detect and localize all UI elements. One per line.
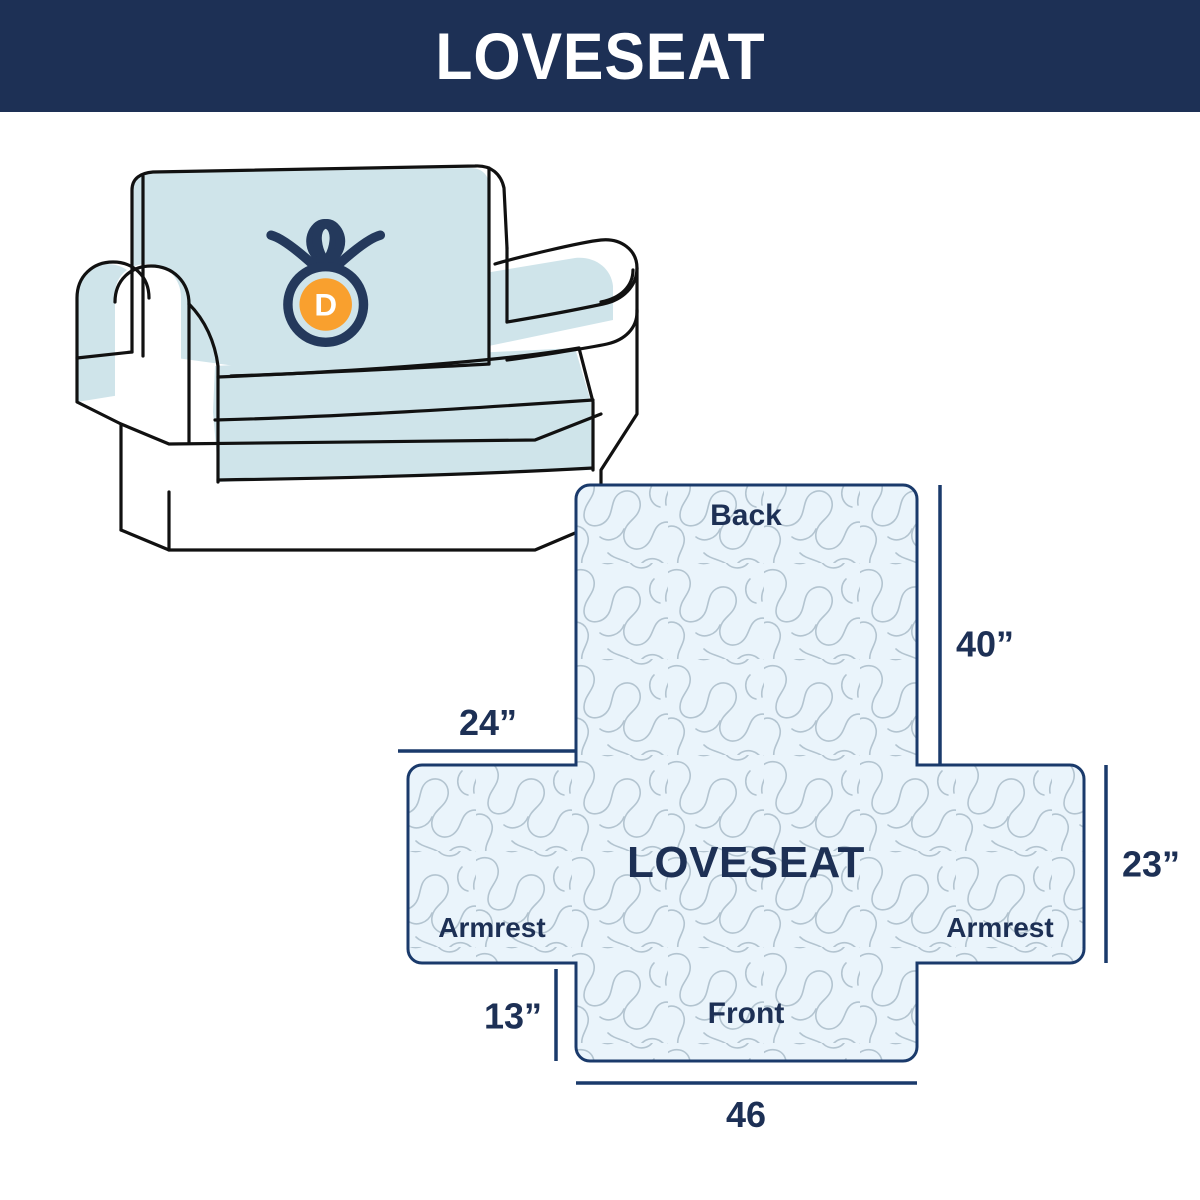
content-stage: D — [0, 112, 1200, 1200]
page-header: LOVESEAT — [0, 0, 1200, 112]
panel-label-armrest-right: Armrest — [946, 912, 1053, 943]
loveseat-cover-diagram: Back LOVESEAT Armrest Armrest Front 40” … — [380, 467, 1180, 1197]
sofa-right-arm-fabric — [479, 258, 613, 348]
dimension-label-back-height: 40” — [956, 624, 1014, 665]
dimension-label-front-width: 46 — [726, 1094, 766, 1135]
logo-letter: D — [314, 287, 337, 323]
page-title: LOVESEAT — [435, 23, 765, 89]
cover-cross-shape — [408, 485, 1084, 1061]
dimension-label-back-width: 24” — [459, 702, 517, 743]
panel-label-front: Front — [708, 997, 785, 1030]
panel-label-back: Back — [710, 499, 782, 532]
panel-label-armrest-left: Armrest — [438, 912, 545, 943]
dimension-label-front-height: 13” — [484, 996, 542, 1037]
cover-center-label: LOVESEAT — [627, 838, 865, 887]
dimension-label-armrest-depth: 23” — [1122, 844, 1180, 885]
